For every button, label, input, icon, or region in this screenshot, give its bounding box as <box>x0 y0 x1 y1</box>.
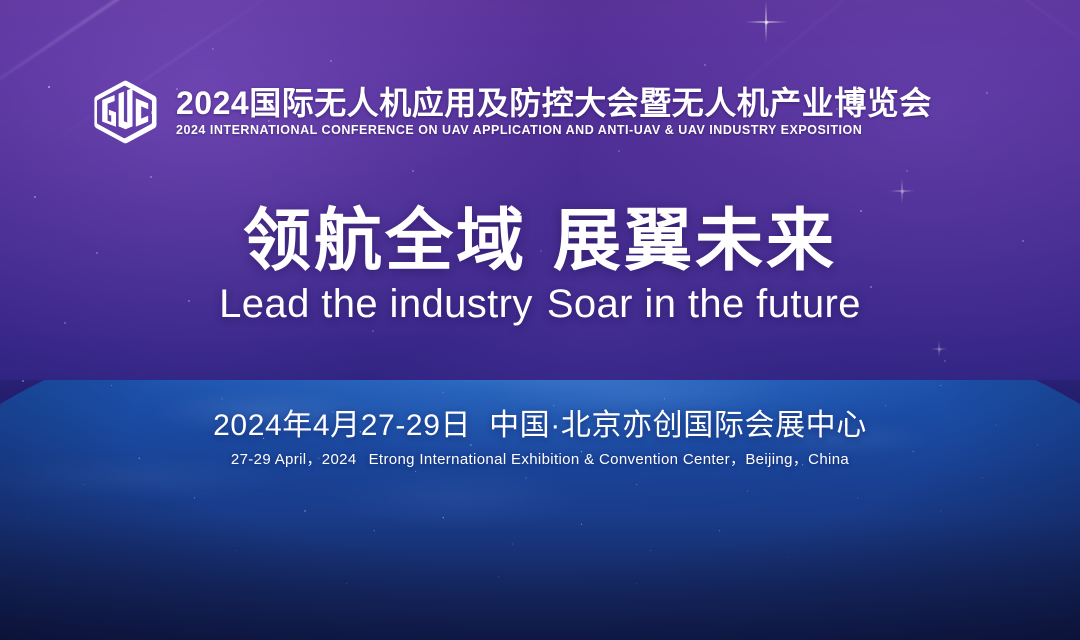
banner-header: 2024国际无人机应用及防控大会暨无人机产业博览会 2024 INTERNATI… <box>92 80 932 144</box>
slogan-block: 领航全域展翼未来 Lead the industrySoar in the fu… <box>0 206 1080 327</box>
slogan-en: Lead the industrySoar in the future <box>0 281 1080 327</box>
event-info-cn: 2024年4月27-29日中国·北京亦创国际会展中心 <box>0 408 1080 444</box>
slogan-cn-part2: 展翼未来 <box>553 203 837 279</box>
slogan-cn-part1: 领航全域 <box>243 203 527 279</box>
header-text-group: 2024国际无人机应用及防控大会暨无人机产业博览会 2024 INTERNATI… <box>176 87 932 138</box>
light-streak-icon <box>924 0 1080 61</box>
event-date-cn: 2024年4月27-29日 <box>213 409 471 442</box>
conference-title-cn: 2024国际无人机应用及防控大会暨无人机产业博览会 <box>176 87 932 121</box>
sparkle-star-icon <box>889 178 915 204</box>
conference-banner: 2024国际无人机应用及防控大会暨无人机产业博览会 2024 INTERNATI… <box>0 0 1080 640</box>
event-date-en: 27-29 April，2024 <box>231 451 357 468</box>
hexagon-guc-logo-icon <box>92 80 162 144</box>
sparkle-star-icon <box>744 0 788 44</box>
sparkle-star-icon <box>930 340 948 358</box>
conference-title-en: 2024 INTERNATIONAL CONFERENCE ON UAV APP… <box>176 124 932 138</box>
event-venue-en: Etrong International Exhibition & Conven… <box>369 451 850 468</box>
event-info-en: 27-29 April，2024Etrong International Exh… <box>0 451 1080 469</box>
slogan-en-part1: Lead the industry <box>219 282 533 326</box>
event-info-block: 2024年4月27-29日中国·北京亦创国际会展中心 27-29 April，2… <box>0 408 1080 469</box>
slogan-cn: 领航全域展翼未来 <box>0 206 1080 277</box>
event-venue-cn: 中国·北京亦创国际会展中心 <box>489 409 867 442</box>
purple-glow-upper-left <box>0 0 580 400</box>
starfield <box>0 0 2 2</box>
slogan-en-part2: Soar in the future <box>547 282 861 326</box>
